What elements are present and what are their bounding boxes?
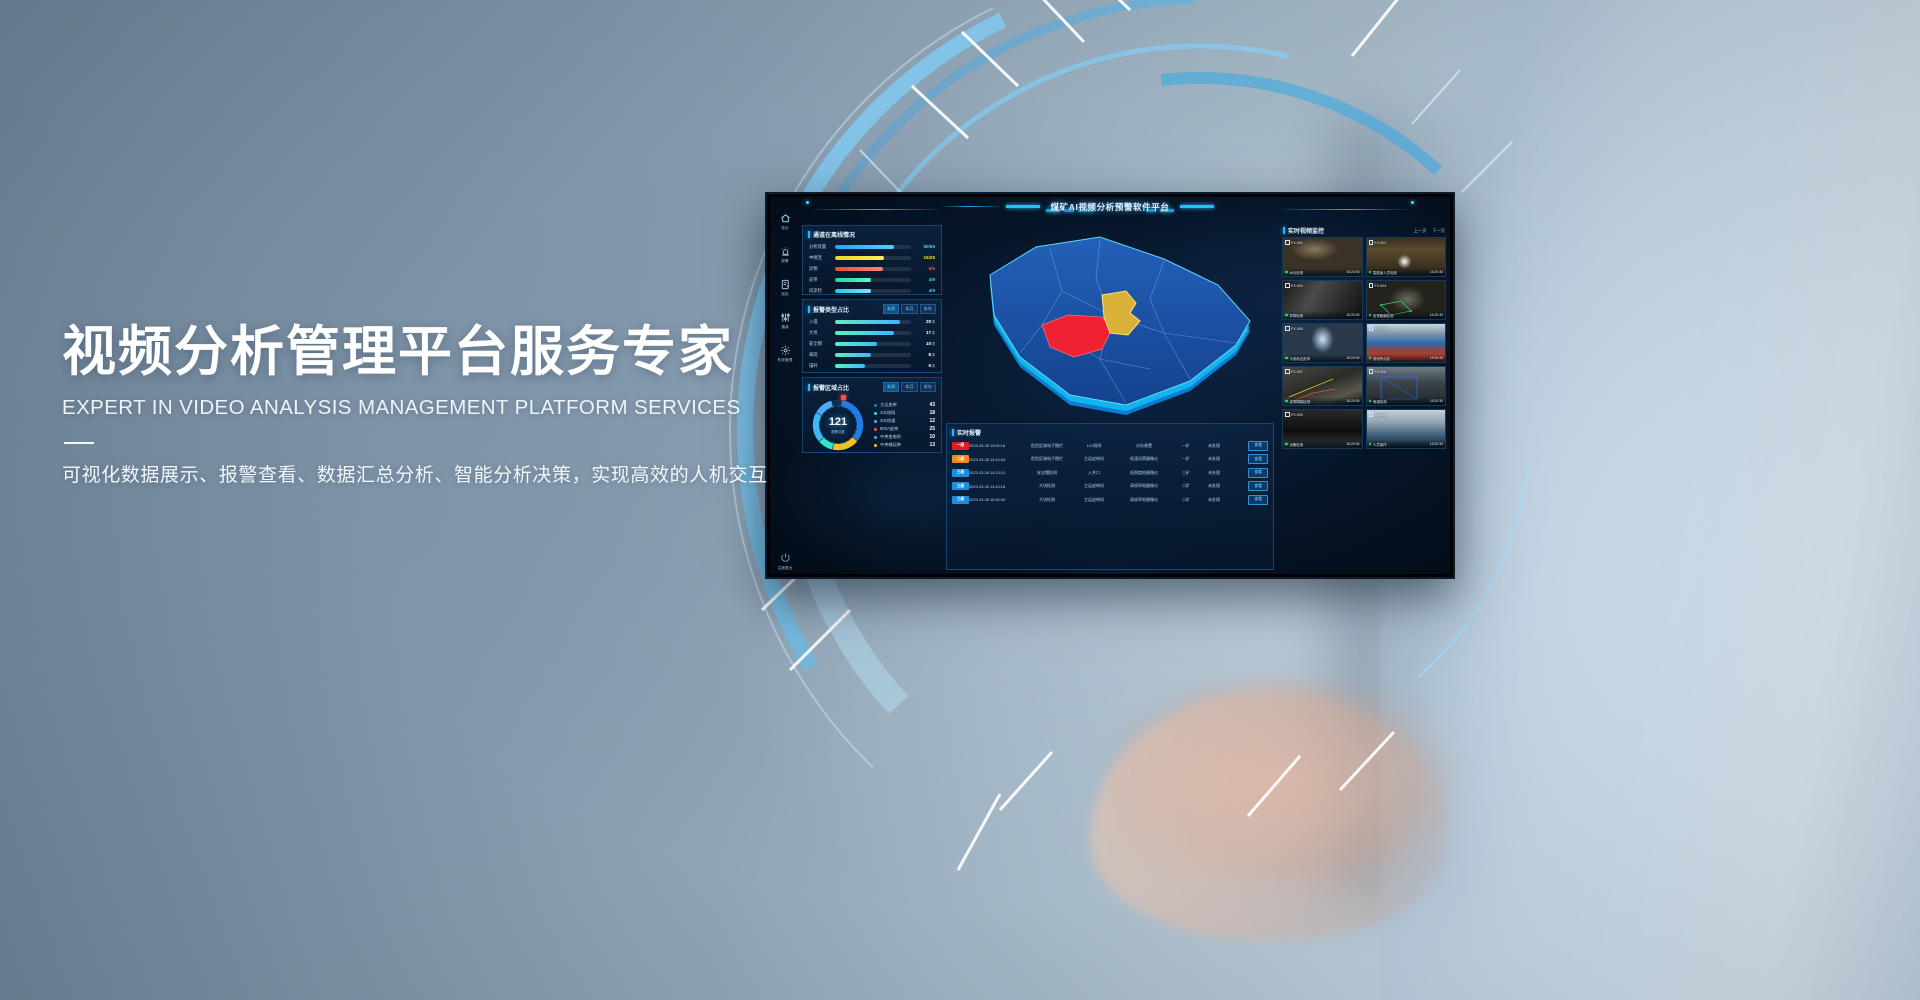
sidebar-label-alarm: 报警 [770,259,800,264]
alarm-type-row: 锚杆 5次 [803,360,941,371]
alarm-status: 未处理 [1199,497,1229,503]
legend-value: 12 [921,418,935,424]
sidebar-label-logout: 注销退出 [770,565,800,570]
alarm-mine: 二矿 [1173,497,1199,503]
alarm-device: 低照度枪摄像仪 [1115,470,1173,476]
prev-page-button[interactable]: 上一页 [1414,228,1427,234]
video-id: FX-009 [1285,412,1303,417]
alarm-areas-panel: 报警区域占比 本周 本月 本年 [802,377,942,453]
alarm-device: 高帧率枪摄像仪 [1115,483,1173,489]
home-icon [770,211,800,225]
alarm-time: 2023-03-28 13:00:16 [969,443,1021,448]
video-name: 变电所点检 [1373,356,1430,361]
alarm-time: 2023-03-28 15:46:00 [969,497,1021,502]
channel-label: 分析装置 [809,244,835,250]
legend-color-dot [874,404,877,407]
province-map[interactable] [950,223,1270,423]
alarm-type: 大块检测 [1021,483,1073,489]
video-cell[interactable]: FX-003 异物检测15:20:30 [1282,280,1363,320]
video-id: FX-010 [1369,412,1387,417]
alarm-type: 安全帽检测 [1021,470,1073,476]
province-map-svg [950,223,1270,423]
legend-color-dot [874,436,877,439]
video-cell[interactable]: FX-007 皮带撕裂检测15:20:30 [1282,366,1363,406]
alarm-types-panel: 报警类型占比 本周 本月 本年 入侵 20次 大块 17次 [802,299,942,373]
video-name: 污泥临近皮带 [1290,356,1347,361]
alarm-type-bar-track [835,353,911,357]
alarm-type-unit: 次 [932,320,935,324]
legend-label: 201绞道 [880,418,921,424]
alarm-mine: 一矿 [1173,456,1199,462]
channel-value: 16/25 [911,255,935,260]
legend-label: 101绞网 [880,410,921,416]
donut-center: 121 报警次数 [819,406,857,444]
dashboard-header: 煤矿AI视频分析预警软件平台 [770,197,1450,223]
live-indicator [1369,271,1372,274]
video-name: 皮带跑偏检测 [1373,313,1430,318]
channel-label: 风流险 [809,288,835,294]
dashboard-title: 煤矿AI视频分析预警软件平台 [770,201,1450,213]
live-indicator [1285,314,1288,317]
view-button[interactable]: 查看 [1248,481,1268,491]
legend-value: 18 [921,410,935,416]
alarm-type: 危险区域电子围栏 [1021,443,1073,449]
channel-bar-fill [835,267,883,271]
alarm-type-value: 10 [926,341,931,346]
video-id: FX-004 [1369,283,1387,288]
alarm-type-value: 20 [926,319,931,324]
alarm-location: 主运皮带机 [1073,497,1115,503]
legend-color-dot [874,420,877,423]
channel-bar-track [835,256,911,260]
dashboard-screen: 煤矿AI视频分析预警软件平台 首页 报警 巡检 [770,197,1450,574]
video-cell[interactable]: FX-001 水仓检测15:20:30 [1282,237,1363,277]
video-cell[interactable]: FX-006 变电所点检15:20:30 [1366,323,1447,363]
live-indicator [1285,271,1288,274]
video-time: 15:20:30 [1430,356,1443,360]
alarm-level-badge: 三级 [952,482,969,490]
video-time: 15:20:30 [1346,399,1359,403]
alarm-status: 未处理 [1199,483,1229,489]
dashboard-monitor: 煤矿AI视频分析预警软件平台 首页 报警 巡检 [765,192,1455,579]
legend-color-dot [874,428,877,431]
alarm-type-value: 17 [926,330,931,335]
alarm-type: 大块检测 [1021,497,1073,503]
video-monitor-panel: 实时视频监控 上一页 下一页 FX-001 水仓检测15:20:30 FX-00… [1278,223,1450,570]
alarm-type-bar-fill [835,364,865,368]
video-name: 异物检测 [1290,313,1347,318]
alarm-type-bar-track [835,331,911,335]
alarm-types-rows: 入侵 20次 大块 17次 安全帽 10次 离岗 8次 [803,316,941,371]
alarm-type-unit: 次 [932,342,935,346]
alarm-mine: 一矿 [1173,443,1199,449]
video-time: 15:20:30 [1430,399,1443,403]
channel-row: 分析装置 50/65 [803,241,941,252]
live-indicator [1285,357,1288,360]
live-indicator [1285,443,1288,446]
alarm-type-bar-fill [835,353,871,357]
alarm-level-badge: 二级 [952,455,969,463]
alarm-mine: 三矿 [1173,470,1199,476]
table-row[interactable]: 一级 2023-03-28 13:00:16 危险区域电子围栏 101绞网 分析… [947,439,1273,453]
channel-row: 异物 6/9 [803,263,941,274]
alarm-status: 未处理 [1199,470,1229,476]
alarm-device: 分析装置 [1115,443,1173,449]
channel-row: 风流险 4/9 [803,285,941,296]
alarm-areas-tabs: 本周 本月 本年 [883,382,936,392]
video-monitor-title: 实时视频监控 [1283,226,1324,235]
table-row[interactable]: 三级 2023-03-28 14:43:18 大块检测 主运皮带机 高帧率枪摄像… [947,480,1273,494]
legend-label: 主运皮带 [880,402,921,408]
alarm-type-unit: 次 [932,353,935,357]
legend-value: 10 [921,434,935,440]
video-id: FX-001 [1285,240,1303,245]
alarm-type-row: 安全帽 10次 [803,338,941,349]
alarm-type-row: 入侵 20次 [803,316,941,327]
realtime-alarm-title: 实时报警 [947,424,1273,439]
live-indicator [1369,443,1372,446]
alarm-type-bar-track [835,320,911,324]
video-time: 15:20:30 [1346,313,1359,317]
alarm-types-title: 报警类型占比 [813,305,849,314]
sidebar-label-inspection: 巡检 [770,292,800,297]
video-name: 设备检测 [1290,442,1347,447]
video-name: 人员操作 [1373,442,1430,447]
channel-bar-track [835,278,911,282]
alarm-type-value: 5 [929,363,932,368]
page-title: 视频分析管理平台服务专家 [62,322,822,382]
logout-icon [770,550,800,564]
legend-label: 中央辅运带 [880,442,921,448]
video-id: FX-005 [1285,326,1303,331]
video-name: 皮带撕裂检测 [1290,399,1347,404]
video-time: 15:20:30 [1430,442,1443,446]
alarm-type-unit: 次 [932,364,935,368]
channel-bar-track [835,245,911,249]
live-indicator [1369,357,1372,360]
video-name: 智能盲人员检测 [1373,270,1430,275]
channel-value: 6/9 [911,266,935,271]
video-time: 15:20:30 [1346,270,1359,274]
channel-status-rows: 分析装置 50/65 中继连 16/25 异物 6/9 皮带 4 [803,241,941,296]
legend-item: 中央变电所10 [874,433,935,441]
legend-label: 中央变电所 [880,434,921,440]
alarm-location: 入井口 [1073,470,1115,476]
page-subtitle: EXPERT IN VIDEO ANALYSIS MANAGEMENT PLAT… [62,396,822,420]
channel-status-panel: 通道在离线情况 分析装置 50/65 中继连 16/25 异物 6/9 [802,225,942,295]
sidebar-item-alarm[interactable]: 报警 [770,244,800,264]
legend-value: 43 [921,402,935,408]
tab-year[interactable]: 本年 [920,304,936,314]
video-time: 15:20:30 [1430,270,1443,274]
video-id: FX-003 [1285,283,1303,288]
channel-bar-fill [835,245,894,249]
alarm-status: 未处理 [1199,443,1229,449]
legend-label: 902A皮带 [880,426,921,432]
alarm-types-tabs: 本周 本月 本年 [883,304,936,314]
channel-bar-track [835,267,911,271]
channel-value: 4/9 [911,288,935,293]
alarm-level-badge: 一级 [952,442,969,450]
channel-label: 中继连 [809,255,835,261]
channel-value: 4/9 [911,277,935,282]
alarm-level-badge: 三级 [952,496,969,504]
alarm-level-badge: 三级 [952,469,969,477]
alarm-type-value: 8 [929,352,932,357]
alarm-type-bar-track [835,342,911,346]
alarm-status: 未处理 [1199,456,1229,462]
sidebar-item-logout[interactable]: 注销退出 [770,550,800,570]
tab-month[interactable]: 本月 [901,304,917,314]
tab-week[interactable]: 本周 [883,382,899,392]
channel-status-title: 通道在离线情况 [803,226,941,241]
alarm-device: 低速风筒摄像仪 [1115,456,1173,462]
alarm-type-bar-fill [835,342,877,346]
video-time: 15:20:30 [1346,442,1359,446]
video-name: 水仓检测 [1290,270,1347,275]
alarm-type-bar-fill [835,320,900,324]
video-time: 15:20:30 [1346,356,1359,360]
legend-item: 201绞道12 [874,417,935,425]
channel-bar-fill [835,289,871,293]
tab-week[interactable]: 本周 [883,304,899,314]
view-button[interactable]: 查看 [1248,495,1268,505]
legend-value: 13 [921,442,935,448]
live-indicator [1285,400,1288,403]
donut-highlight-marker [841,395,846,400]
alarm-device: 高帧率枪摄像仪 [1115,497,1173,503]
legend-color-dot [874,412,877,415]
video-cell[interactable]: FX-008 堆煤检测15:20:30 [1366,366,1447,406]
alarm-icon [770,244,800,258]
inspection-icon [770,277,800,291]
alarm-mine: 二矿 [1173,483,1199,489]
legend-item: 902A皮带25 [874,425,935,433]
alarm-location: 主运皮带机 [1073,483,1115,489]
view-button[interactable]: 查看 [1248,468,1268,478]
sidebar-label-home: 首页 [770,226,800,231]
alarm-areas-legend: 主运皮带43 101绞网18 201绞道12 902A皮带25 中央变电所10 … [867,401,935,449]
realtime-alarm-panel: 实时报警 一级 2023-03-28 13:00:16 危险区域电子围栏 101… [946,423,1274,570]
page-description: 可视化数据展示、报警查看、数据汇总分析、智能分析决策，实现高效的人机交互 [62,460,822,487]
alarm-type-bar-fill [835,331,894,335]
table-row[interactable]: 二级 2023-03-28 13:14:03 危险区域电子围栏 主运皮带机 低速… [947,453,1273,467]
alarm-location: 主运皮带机 [1073,456,1115,462]
hero-copy: 视频分析管理平台服务专家 EXPERT IN VIDEO ANALYSIS MA… [62,322,822,487]
view-button[interactable]: 查看 [1248,441,1268,451]
channel-label: 皮带 [809,277,835,283]
view-button[interactable]: 查看 [1248,454,1268,464]
legend-item: 主运皮带43 [874,401,935,409]
alarm-time: 2023-03-28 14:13:21 [969,470,1021,475]
table-row[interactable]: 三级 2023-03-28 14:13:21 安全帽检测 入井口 低照度枪摄像仪… [947,466,1273,480]
donut-center-value: 121 [829,417,847,428]
tab-month[interactable]: 本月 [901,382,917,392]
legend-item: 中央辅运带13 [874,441,935,449]
channel-bar-fill [835,278,871,282]
video-time: 15:20:30 [1430,313,1443,317]
video-id: FX-002 [1369,240,1387,245]
video-cell[interactable]: FX-010 人员操作15:20:30 [1366,409,1447,449]
video-grid: FX-001 水仓检测15:20:30 FX-002 智能盲人员检测15:20:… [1278,237,1450,449]
video-cell[interactable]: FX-002 智能盲人员检测15:20:30 [1366,237,1447,277]
legend-item: 101绞网18 [874,409,935,417]
channel-bar-fill [835,256,884,260]
alarm-type-bar-track [835,364,911,368]
tab-year[interactable]: 本年 [920,382,936,392]
video-id: FX-008 [1369,369,1387,374]
video-name: 堆煤检测 [1373,399,1430,404]
alarm-time: 2023-03-28 13:14:03 [969,457,1021,462]
channel-label: 异物 [809,266,835,272]
live-indicator [1369,314,1372,317]
video-cell[interactable]: FX-009 设备检测15:20:30 [1282,409,1363,449]
video-cell[interactable]: FX-005 污泥临近皮带15:20:30 [1282,323,1363,363]
next-page-button[interactable]: 下一页 [1432,228,1445,234]
video-id: FX-007 [1285,369,1303,374]
video-id: FX-006 [1369,326,1387,331]
live-indicator [1369,400,1372,403]
realtime-alarm-table: 一级 2023-03-28 13:00:16 危险区域电子围栏 101绞网 分析… [947,439,1273,507]
alarm-time: 2023-03-28 14:43:18 [969,484,1021,489]
channel-row: 中继连 16/25 [803,252,941,263]
alarm-type-row: 大块 17次 [803,327,941,338]
sidebar-item-home[interactable]: 首页 [770,211,800,231]
alarm-location: 101绞网 [1073,443,1115,449]
alarm-type-unit: 次 [932,331,935,335]
video-cell[interactable]: FX-004 皮带跑偏检测15:20:30 [1366,280,1447,320]
donut-center-label: 报警次数 [831,429,845,434]
table-row[interactable]: 三级 2023-03-28 15:46:00 大块检测 主运皮带机 高帧率枪摄像… [947,493,1273,507]
channel-row: 皮带 4/9 [803,274,941,285]
legend-color-dot [874,444,877,447]
channel-value: 50/65 [911,244,935,249]
channel-bar-track [835,289,911,293]
legend-value: 25 [921,426,935,432]
sidebar-item-inspection[interactable]: 巡检 [770,277,800,297]
hero-divider [64,442,94,444]
alarm-type: 危险区域电子围栏 [1021,456,1073,462]
alarm-type-row: 离岗 8次 [803,349,941,360]
